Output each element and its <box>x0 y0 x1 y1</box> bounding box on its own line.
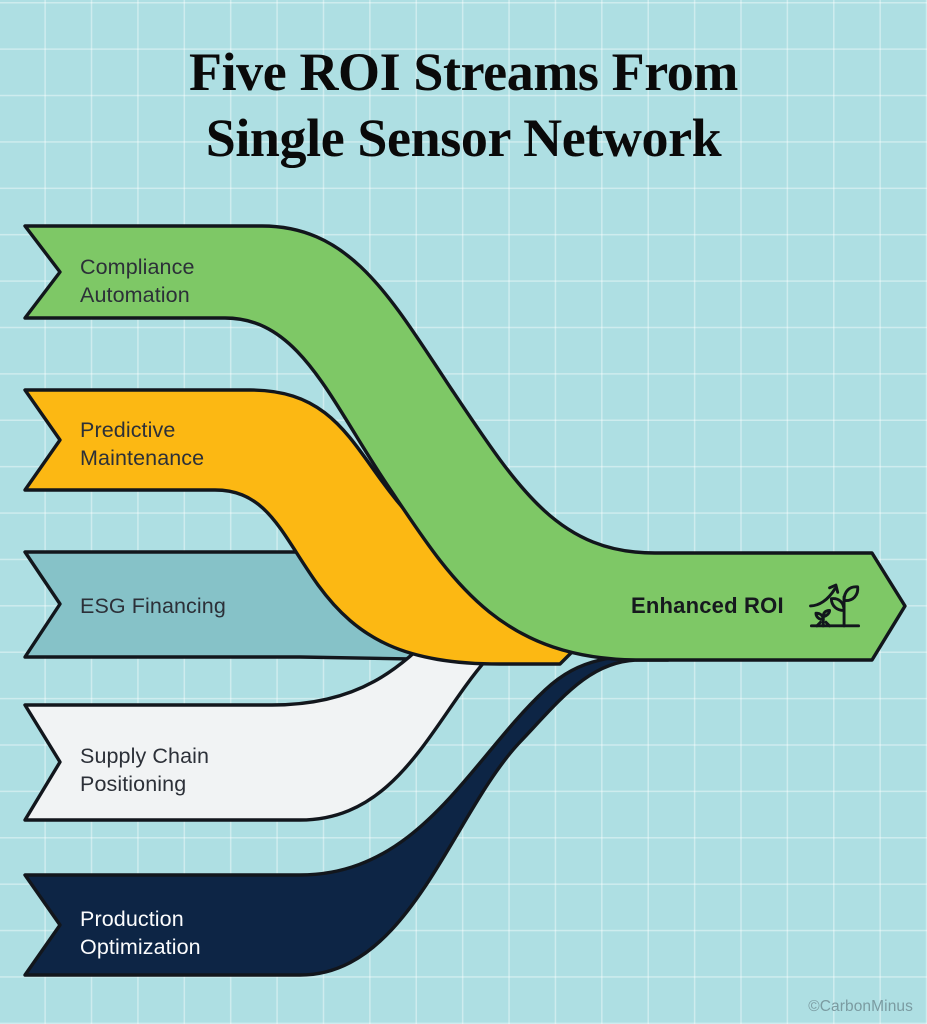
growth-plant-arrow-icon <box>806 576 864 634</box>
label-compliance-automation: Compliance Automation <box>80 254 195 310</box>
label-predictive-maintenance: Predictive Maintenance <box>80 417 204 473</box>
label-supply-chain-positioning: Supply Chain Positioning <box>80 743 209 799</box>
label-enhanced-roi: Enhanced ROI <box>631 593 784 619</box>
label-esg-financing: ESG Financing <box>80 593 226 621</box>
label-production-optimization: Production Optimization <box>80 906 201 962</box>
infographic-canvas: Five ROI Streams From Single Sensor Netw… <box>0 0 927 1024</box>
copyright-credit: ©CarbonMinus <box>808 998 913 1016</box>
flow-ribbons <box>0 0 927 1024</box>
